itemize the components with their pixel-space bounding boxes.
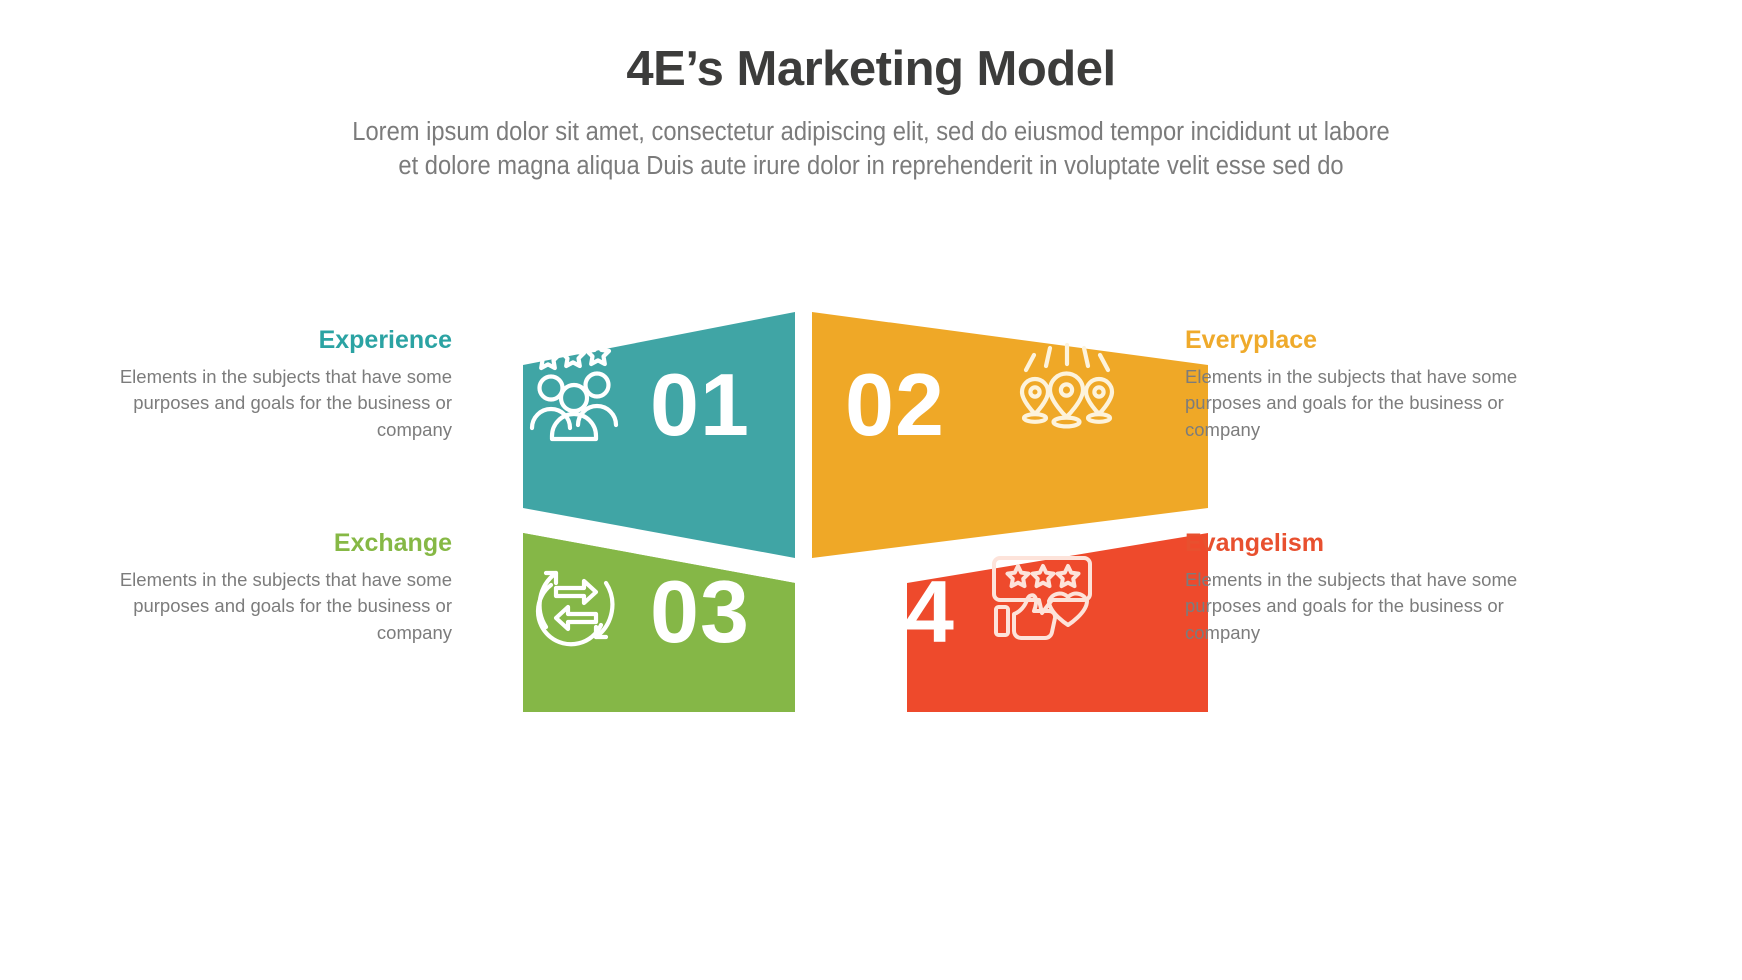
- label-title-everyplace: Everyplace: [1185, 327, 1545, 355]
- label-title-experience: Experience: [92, 327, 452, 355]
- panel-02-everyplace[interactable]: 02: [812, 312, 1208, 558]
- panel-01-experience[interactable]: 01: [523, 312, 795, 558]
- label-block-exchange: Exchange Elements in the subjects that h…: [92, 530, 452, 646]
- label-desc-experience: Elements in the subjects that have some …: [92, 364, 452, 444]
- panel-03-exchange[interactable]: 03: [523, 533, 795, 712]
- panel-04-number: 04: [855, 562, 955, 661]
- label-desc-evangelism: Elements in the subjects that have some …: [1185, 567, 1545, 647]
- label-block-evangelism: Evangelism Elements in the subjects that…: [1185, 530, 1545, 646]
- label-block-experience: Experience Elements in the subjects that…: [92, 327, 452, 443]
- infographic-page: 4E’s Marketing Model Lorem ipsum dolor s…: [0, 0, 1742, 980]
- panel-02-number: 02: [845, 355, 945, 454]
- label-block-everyplace: Everyplace Elements in the subjects that…: [1185, 327, 1545, 443]
- label-title-exchange: Exchange: [92, 530, 452, 558]
- panel-04-evangelism[interactable]: 04: [855, 533, 1208, 712]
- four-e-diagram: 01 02: [0, 0, 1742, 980]
- panel-03-number: 03: [650, 562, 750, 661]
- diagram-svg: 01 02: [0, 0, 1742, 980]
- label-desc-everyplace: Elements in the subjects that have some …: [1185, 364, 1545, 444]
- panel-01-number: 01: [650, 355, 750, 454]
- label-desc-exchange: Elements in the subjects that have some …: [92, 567, 452, 647]
- label-title-evangelism: Evangelism: [1185, 530, 1545, 558]
